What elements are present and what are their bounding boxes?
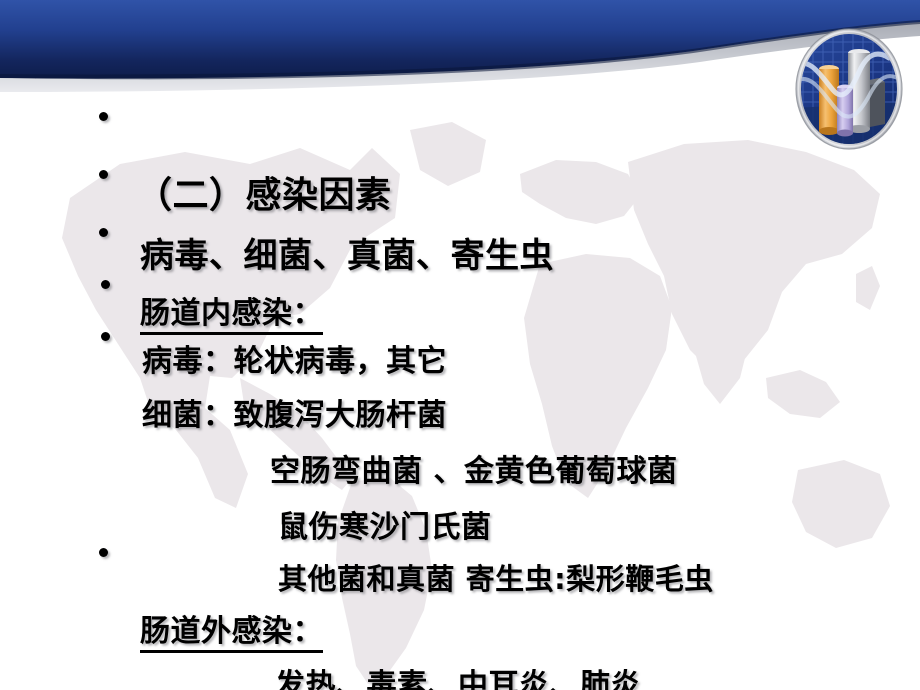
bullet-marker [101, 280, 110, 289]
sub-line-other-fungi-parasite: 其他菌和真菌 寄生虫:梨形鞭毛虫 [278, 556, 714, 598]
bullet-marker [99, 228, 108, 237]
bullet-marker [99, 548, 108, 557]
slide-body: （二）感染因素 病毒、细菌、真菌、寄生虫 肠道内感染： 病毒：轮状病毒，其它 细… [0, 78, 920, 690]
underlined-label: 肠道内感染： [140, 296, 323, 335]
sub-line-fever-toxin-otitis-pneumonia: 发热、毒素、中耳炎、肺炎 [275, 660, 641, 690]
sub-line-salmonella: 鼠伤寒沙门氏菌 [278, 502, 492, 546]
bullet-marker [101, 332, 110, 341]
bullet-marker [99, 170, 108, 179]
bullet-marker [99, 112, 108, 121]
presentation-slide: （二）感染因素 病毒、细菌、真菌、寄生虫 肠道内感染： 病毒：轮状病毒，其它 细… [0, 0, 920, 690]
sub-line-campylobacter-staph: 空肠弯曲菌 、金黄色葡萄球菌 [270, 446, 677, 490]
underlined-label: 肠道外感染： [140, 614, 323, 653]
bullet-line-bacteria: 细菌：致腹泻大肠杆菌 [142, 390, 447, 434]
bullet-line-virus: 病毒：轮状病毒，其它 [142, 336, 447, 380]
bullet-line-enteric-infection-heading: 肠道内感染： [140, 288, 323, 332]
bullet-line-section-title: （二）感染因素 [136, 166, 392, 218]
bullet-line-pathogen-types: 病毒、细菌、真菌、寄生虫 [140, 228, 554, 277]
bullet-line-parenteral-infection-heading: 肠道外感染： [140, 606, 323, 650]
